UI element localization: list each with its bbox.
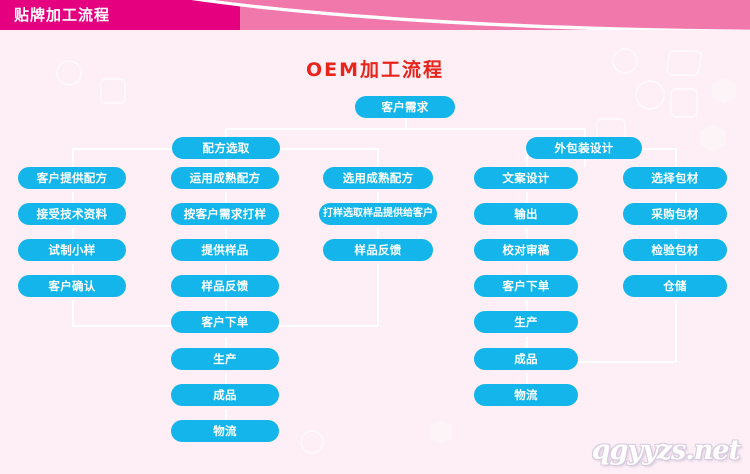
node-purchase-packaging-material[interactable]: 采购包材 (623, 203, 727, 225)
node-finished-product-2[interactable]: 成品 (474, 348, 578, 370)
connector (377, 264, 379, 326)
node-customer-confirmation[interactable]: 客户确认 (18, 275, 126, 297)
node-sample-feedback-2[interactable]: 样品反馈 (323, 239, 433, 261)
connector (578, 361, 676, 363)
connector (526, 337, 528, 348)
node-receive-technical-data[interactable]: 接受技术资料 (18, 203, 126, 225)
decor-rounded-square-icon (670, 88, 698, 118)
connector (225, 228, 227, 239)
node-copywriting-design[interactable]: 文案设计 (474, 167, 578, 189)
node-select-packaging-material[interactable]: 选择包材 (623, 167, 727, 189)
connector (225, 337, 227, 348)
node-sample-feedback[interactable]: 样品反馈 (171, 275, 279, 297)
connector (278, 325, 378, 327)
connector (225, 300, 227, 311)
connector (72, 148, 172, 150)
connector (72, 300, 74, 326)
connector (584, 159, 586, 167)
node-logistics[interactable]: 物流 (171, 420, 279, 442)
node-sample-to-customer[interactable]: 打样选取样品提供给客户 (319, 203, 437, 225)
connector (225, 373, 227, 384)
decor-hexagon-icon (700, 124, 726, 152)
node-provide-sample[interactable]: 提供样品 (171, 239, 279, 261)
node-choose-mature-formula[interactable]: 选用成熟配方 (323, 167, 433, 189)
connector (72, 264, 74, 275)
node-sample-per-customer[interactable]: 按客户需求打样 (171, 203, 279, 225)
top-banner: 贴牌加工流程 (0, 0, 750, 30)
node-warehousing[interactable]: 仓储 (623, 275, 727, 297)
connector (72, 148, 74, 167)
connector (377, 148, 379, 167)
connector (526, 373, 528, 384)
connector (675, 300, 677, 362)
decor-circle-icon (300, 430, 324, 454)
connector (225, 159, 227, 167)
banner-title: 贴牌加工流程 (14, 0, 110, 30)
connector (280, 148, 378, 150)
node-branch-formula-selection[interactable]: 配方选取 (172, 137, 280, 159)
node-customer-order[interactable]: 客户下单 (171, 311, 279, 333)
connector (72, 228, 74, 239)
connector (225, 128, 585, 130)
connector (225, 264, 227, 275)
connector (225, 192, 227, 203)
node-logistics-2[interactable]: 物流 (474, 384, 578, 406)
connector (675, 192, 677, 203)
node-customer-provides-formula[interactable]: 客户提供配方 (18, 167, 126, 189)
site-watermark: qgyyzs.net (592, 435, 740, 466)
connector (526, 228, 528, 239)
node-apply-mature-formula[interactable]: 运用成熟配方 (171, 167, 279, 189)
connector (377, 192, 379, 203)
connector (72, 192, 74, 203)
connector (526, 264, 528, 275)
connector (675, 264, 677, 275)
node-production[interactable]: 生产 (171, 348, 279, 370)
decor-circle-icon (635, 80, 665, 110)
connector (225, 409, 227, 420)
node-root-customer-demand[interactable]: 客户需求 (355, 96, 455, 118)
connector (675, 148, 677, 167)
node-branch-outer-package-design[interactable]: 外包装设计 (526, 137, 642, 159)
node-proofreading[interactable]: 校对审稿 (474, 239, 578, 261)
node-inspect-packaging-material[interactable]: 检验包材 (623, 239, 727, 261)
connector (526, 300, 528, 311)
node-finished-product[interactable]: 成品 (171, 384, 279, 406)
connector (72, 325, 172, 327)
node-output[interactable]: 输出 (474, 203, 578, 225)
node-production-2[interactable]: 生产 (474, 311, 578, 333)
connector (675, 228, 677, 239)
decor-hexagon-icon (430, 420, 452, 444)
connector (377, 228, 379, 239)
page-title: OEM加工流程 (0, 55, 750, 82)
node-trial-sample[interactable]: 试制小样 (18, 239, 126, 261)
node-customer-order-2[interactable]: 客户下单 (474, 275, 578, 297)
connector (526, 192, 528, 203)
